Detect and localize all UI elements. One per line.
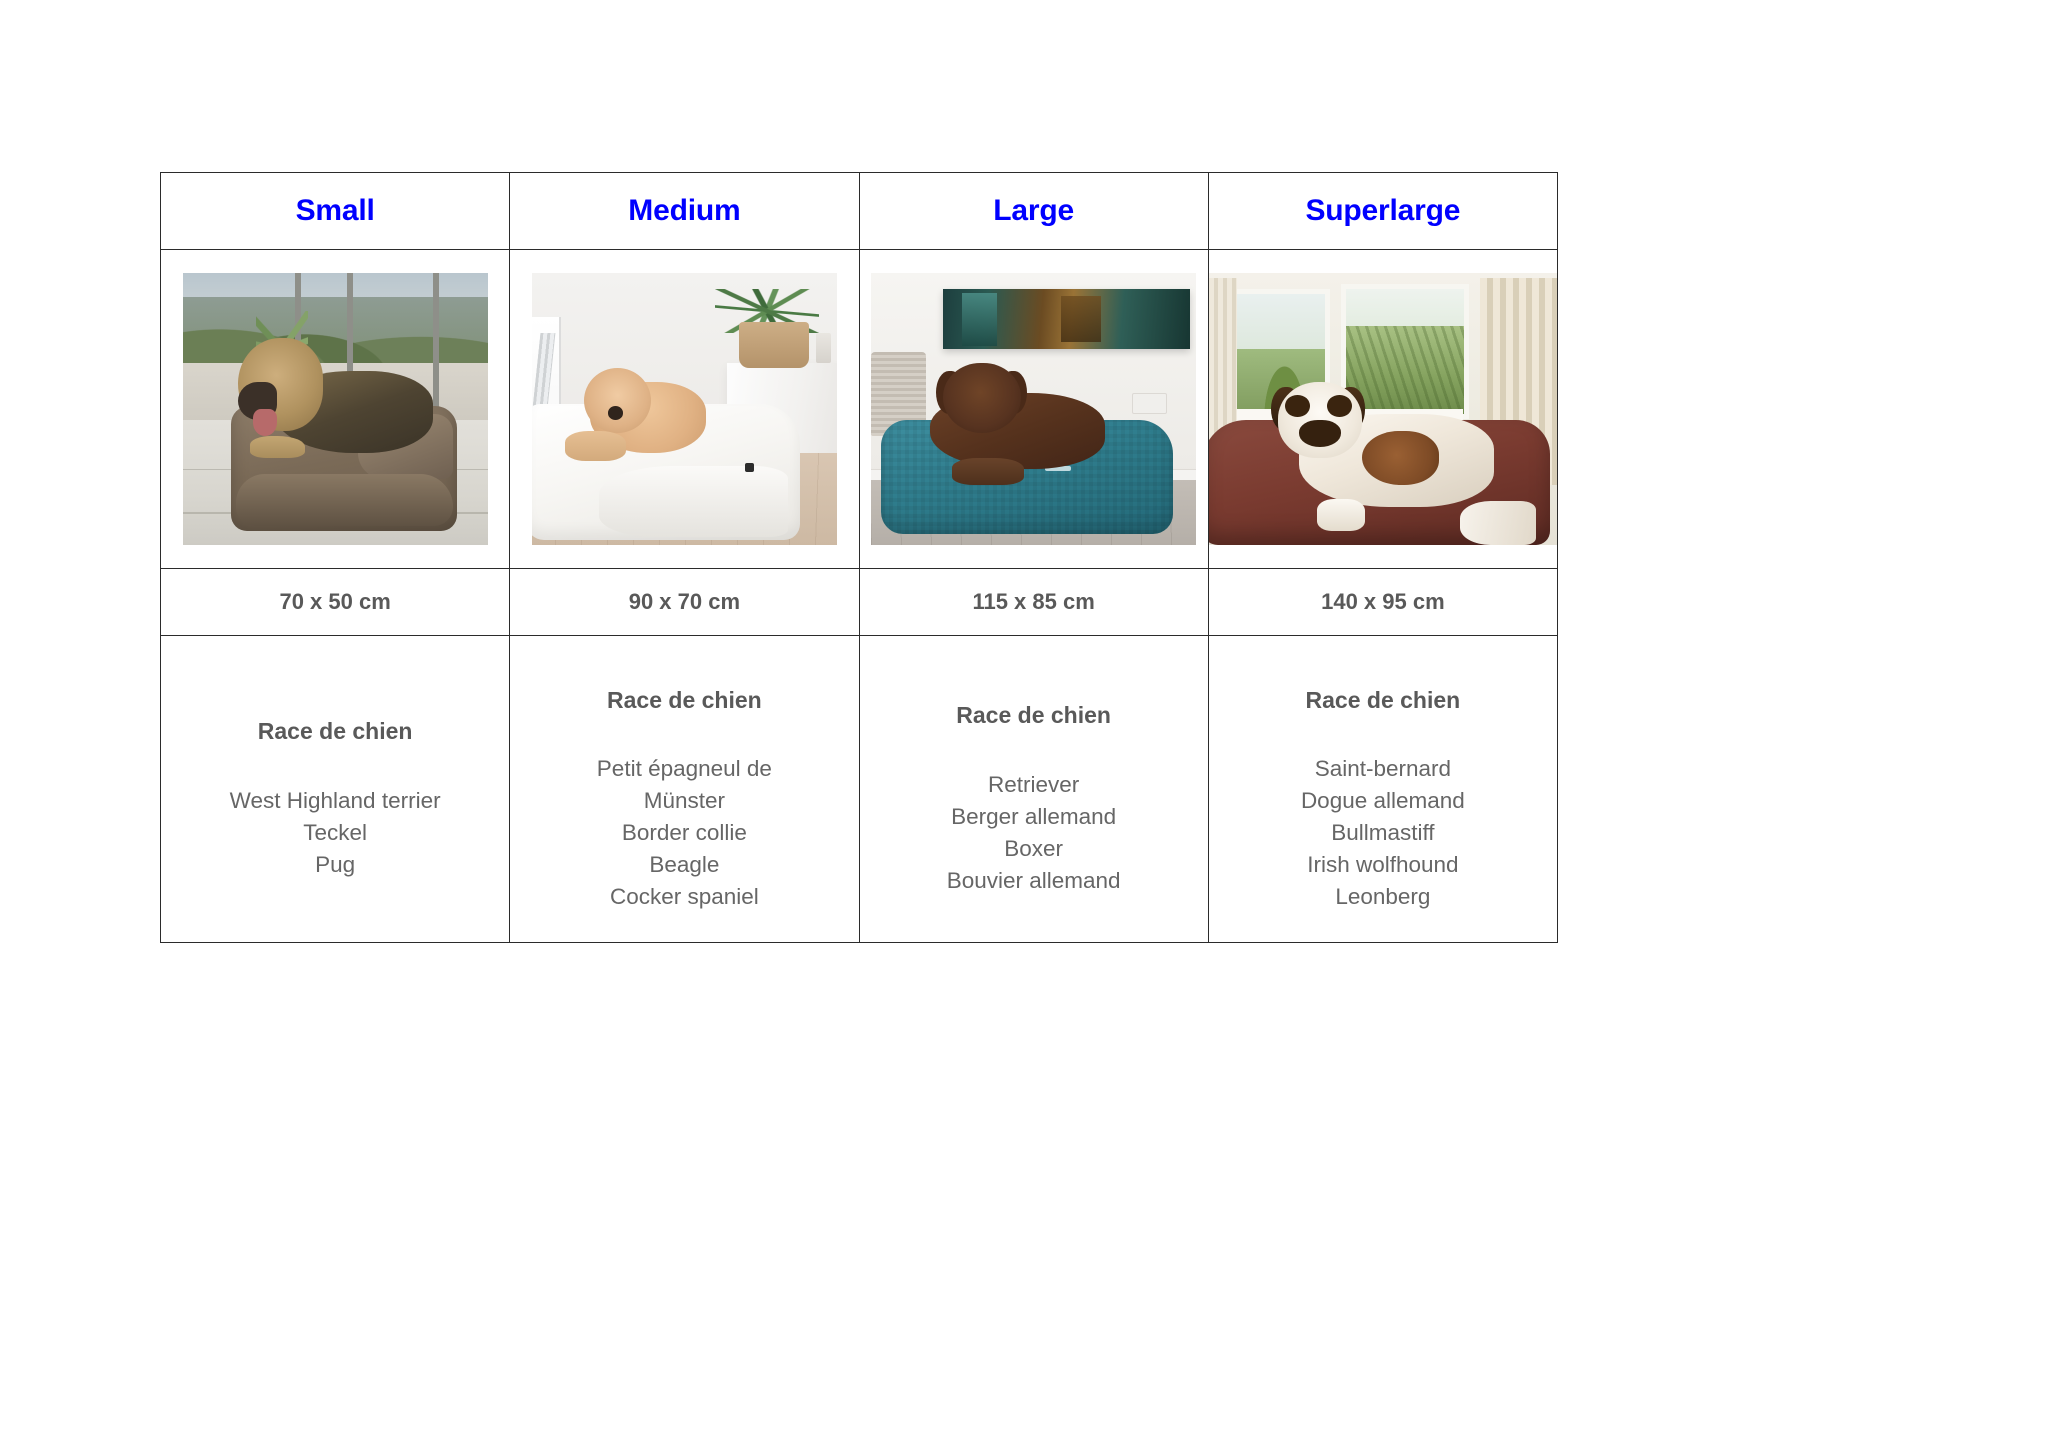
breed-heading-superlarge: Race de chien: [1209, 688, 1557, 713]
photo-cell-superlarge: [1208, 250, 1557, 569]
dimensions-superlarge: 140 x 95 cm: [1209, 591, 1557, 613]
breed-block-medium: Race de chien Petit épagneul deMünsterBo…: [510, 666, 858, 913]
power-outlet: [1132, 393, 1167, 414]
breed-block-superlarge: Race de chien Saint-bernardDogue alleman…: [1209, 666, 1557, 913]
breed-item: Irish wolfhound: [1209, 849, 1557, 881]
bed-front-bolster: [236, 474, 453, 527]
dimensions-cell-superlarge: 140 x 95 cm: [1208, 569, 1557, 636]
labrador-head: [943, 363, 1021, 434]
breed-item: Saint-bernard: [1209, 753, 1557, 785]
candle: [816, 333, 831, 363]
header-cell-small: Small: [161, 173, 510, 250]
dog-bed-size-table: Small Medium Large Superlarge: [160, 172, 1558, 943]
breed-item: West Highland terrier: [161, 785, 509, 817]
artwork-shape: [962, 293, 997, 346]
breed-item: Bouvier allemand: [860, 865, 1208, 897]
breed-heading-large: Race de chien: [860, 703, 1208, 728]
size-header-small: Small: [161, 196, 509, 226]
breeds-cell-large: Race de chien RetrieverBerger allemandBo…: [859, 636, 1208, 943]
photo-wrap-small: [161, 250, 509, 568]
labrador-front-paws: [952, 458, 1024, 485]
cushion-fold: [599, 466, 788, 537]
breed-item: Beagle: [510, 849, 858, 881]
photo-cell-small: [161, 250, 510, 569]
breed-item: Dogue allemand: [1209, 785, 1557, 817]
breed-list-small: West Highland terrierTeckelPug: [161, 785, 509, 881]
saint-bernard-brown-patch: [1362, 431, 1439, 485]
artwork-shape: [1061, 296, 1101, 341]
breed-item: Boxer: [860, 833, 1208, 865]
size-header-large: Large: [860, 196, 1208, 226]
table-breeds-row: Race de chien West Highland terrierTecke…: [161, 636, 1558, 943]
breed-list-large: RetrieverBerger allemandBoxerBouvier all…: [860, 769, 1208, 897]
dimensions-large: 115 x 85 cm: [860, 591, 1208, 613]
breed-item: Retriever: [860, 769, 1208, 801]
page-canvas: Small Medium Large Superlarge: [0, 0, 2048, 1448]
photo-large-dog-bed: [871, 273, 1196, 545]
breed-item: Border collie: [510, 817, 858, 849]
photo-medium-dog-bed: [532, 273, 837, 545]
size-header-medium: Medium: [510, 196, 858, 226]
woven-basket-pot: [739, 322, 809, 368]
photo-cell-medium: [510, 250, 859, 569]
breed-item: Pug: [161, 849, 509, 881]
dimensions-small: 70 x 50 cm: [161, 591, 509, 613]
breed-block-large: Race de chien RetrieverBerger allemandBo…: [860, 681, 1208, 896]
dimensions-medium: 90 x 70 cm: [510, 591, 858, 613]
saint-bernard-eye-patch-left: [1285, 395, 1309, 417]
breed-item: Petit épagneul de: [510, 753, 858, 785]
breed-item: Münster: [510, 785, 858, 817]
header-cell-large: Large: [859, 173, 1208, 250]
photo-wrap-medium: [510, 250, 858, 568]
breed-item: Leonberg: [1209, 881, 1557, 913]
table-photo-row: [161, 250, 1558, 569]
cockapoo-front-paws: [565, 431, 626, 461]
dimensions-cell-medium: 90 x 70 cm: [510, 569, 859, 636]
wall-artwork: [943, 289, 1190, 349]
photo-wrap-superlarge: [1209, 250, 1557, 568]
table-header-row: Small Medium Large Superlarge: [161, 173, 1558, 250]
table-dimensions-row: 70 x 50 cm 90 x 70 cm 115 x 85 cm 140 x …: [161, 569, 1558, 636]
breed-item: Teckel: [161, 817, 509, 849]
dimensions-cell-small: 70 x 50 cm: [161, 569, 510, 636]
breed-item: Berger allemand: [860, 801, 1208, 833]
photo-cell-large: [859, 250, 1208, 569]
cockapoo-head: [584, 368, 651, 433]
header-cell-superlarge: Superlarge: [1208, 173, 1557, 250]
dimensions-cell-large: 115 x 85 cm: [859, 569, 1208, 636]
photo-small-dog-bed: [183, 273, 488, 545]
photo-superlarge-dog-bed: [1209, 273, 1557, 545]
breed-item: Cocker spaniel: [510, 881, 858, 913]
breed-heading-medium: Race de chien: [510, 688, 858, 713]
breed-heading-small: Race de chien: [161, 719, 509, 744]
header-cell-medium: Medium: [510, 173, 859, 250]
breed-list-medium: Petit épagneul deMünsterBorder collieBea…: [510, 753, 858, 913]
size-header-superlarge: Superlarge: [1209, 196, 1557, 226]
breed-item: Bullmastiff: [1209, 817, 1557, 849]
saint-bernard-tail: [1460, 501, 1537, 545]
photo-wrap-large: [860, 250, 1208, 568]
breeds-cell-small: Race de chien West Highland terrierTecke…: [161, 636, 510, 943]
brand-tag: [745, 463, 754, 472]
breeds-cell-superlarge: Race de chien Saint-bernardDogue alleman…: [1208, 636, 1557, 943]
terrier-front-legs: [250, 436, 305, 458]
breeds-cell-medium: Race de chien Petit épagneul deMünsterBo…: [510, 636, 859, 943]
saint-bernard-front-paw: [1317, 499, 1366, 532]
saint-bernard-eye-patch-right: [1327, 395, 1351, 417]
saint-bernard-snout: [1299, 420, 1341, 447]
breed-block-small: Race de chien West Highland terrierTecke…: [161, 697, 509, 880]
breed-list-superlarge: Saint-bernardDogue allemandBullmastiffIr…: [1209, 753, 1557, 913]
